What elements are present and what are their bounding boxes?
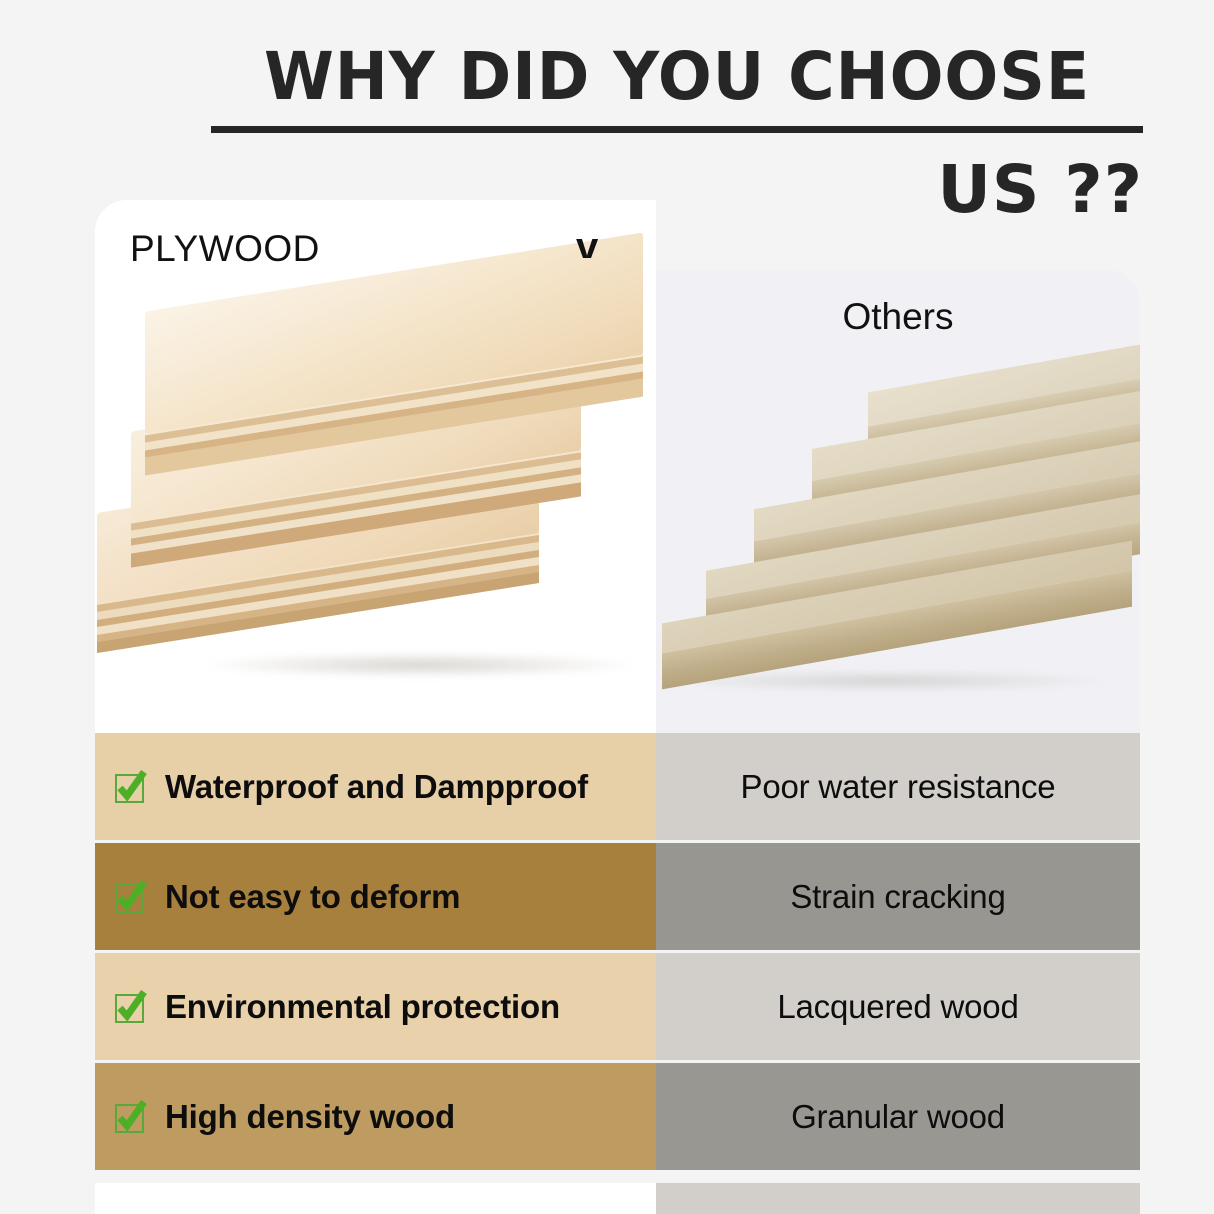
others-label: Others bbox=[656, 296, 1140, 338]
feature-cell-others: Poor water resistance bbox=[656, 733, 1140, 840]
comparison-board: PLYWOOD v bbox=[95, 200, 1140, 1183]
plywood-shadow bbox=[205, 652, 635, 678]
check-icon bbox=[113, 989, 149, 1025]
feature-label-others: Lacquered wood bbox=[777, 988, 1018, 1026]
feature-cell-others: Lacquered wood bbox=[656, 953, 1140, 1060]
feature-label-plywood: Waterproof and Dampproof bbox=[165, 768, 588, 806]
clipped-glyph-label: v bbox=[576, 226, 598, 258]
feature-rows: Waterproof and Dampproof Poor water resi… bbox=[95, 733, 1140, 1173]
plywood-label: PLYWOOD bbox=[130, 228, 320, 270]
feature-cell-others: Granular wood bbox=[656, 1063, 1140, 1170]
feature-cell-others: Strain cracking bbox=[656, 843, 1140, 950]
feature-label-plywood: High density wood bbox=[165, 1098, 455, 1136]
table-row: Waterproof and Dampproof Poor water resi… bbox=[95, 733, 1140, 840]
particleboard-stack-image bbox=[656, 270, 1140, 733]
page-header: WHY DID YOU CHOOSE US ?? bbox=[211, 38, 1143, 227]
check-icon bbox=[113, 769, 149, 805]
board-footer-left bbox=[95, 1183, 656, 1214]
table-row: High density wood Granular wood bbox=[95, 1063, 1140, 1170]
feature-cell-plywood: High density wood bbox=[95, 1063, 656, 1170]
board-footer-right bbox=[656, 1183, 1140, 1214]
feature-cell-plywood: Environmental protection bbox=[95, 953, 656, 1060]
feature-label-plywood: Environmental protection bbox=[165, 988, 560, 1026]
table-row: Not easy to deform Strain cracking bbox=[95, 843, 1140, 950]
board-footer bbox=[95, 1183, 1140, 1214]
feature-cell-plywood: Waterproof and Dampproof bbox=[95, 733, 656, 840]
feature-label-others: Strain cracking bbox=[790, 878, 1005, 916]
title-underline bbox=[211, 126, 1143, 133]
plywood-panel: PLYWOOD v bbox=[95, 200, 656, 733]
product-image-panels: PLYWOOD v bbox=[95, 200, 1140, 733]
page-title-line1: WHY DID YOU CHOOSE bbox=[230, 38, 1125, 116]
check-icon bbox=[113, 879, 149, 915]
plywood-stack-image bbox=[95, 200, 656, 733]
feature-label-others: Granular wood bbox=[791, 1098, 1005, 1136]
table-row: Environmental protection Lacquered wood bbox=[95, 953, 1140, 1060]
check-icon bbox=[113, 1099, 149, 1135]
feature-cell-plywood: Not easy to deform bbox=[95, 843, 656, 950]
feature-label-others: Poor water resistance bbox=[741, 768, 1056, 806]
feature-label-plywood: Not easy to deform bbox=[165, 878, 460, 916]
others-panel: Others bbox=[656, 270, 1140, 733]
